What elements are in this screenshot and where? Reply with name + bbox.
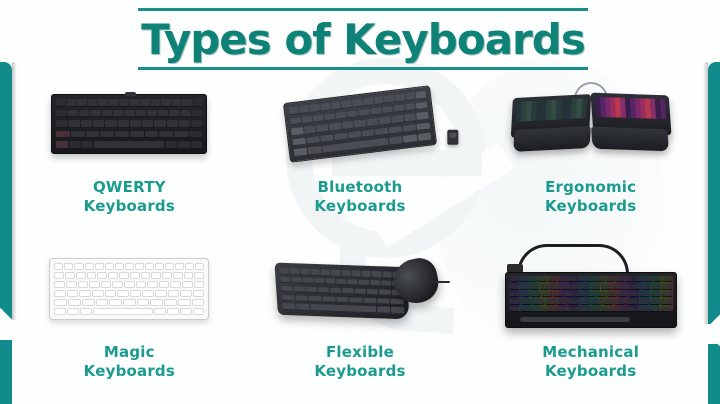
page-title: Types of Keyboards [138, 15, 588, 65]
card-magic-label-line2: Keyboards [84, 362, 175, 381]
card-magic: Magic Keyboards [14, 235, 245, 400]
title-block: Types of Keyboards [138, 8, 588, 70]
mechanical-keyboard-image [475, 241, 706, 337]
card-qwerty-label-line2: Keyboards [84, 197, 175, 216]
card-ergonomic-label: Ergonomic Keyboards [545, 178, 636, 216]
right-frame-bar-top [708, 62, 720, 324]
card-qwerty: QWERTY Keyboards [14, 70, 245, 235]
card-qwerty-label: QWERTY Keyboards [84, 178, 175, 216]
card-mechanical-label-line2: Keyboards [542, 362, 639, 381]
card-magic-label: Magic Keyboards [84, 343, 175, 381]
flexible-keyboard-image [245, 241, 476, 337]
card-mechanical-label: Mechanical Keyboards [542, 343, 639, 381]
title-rule-top [138, 8, 588, 11]
card-ergonomic-label-line2: Keyboards [545, 197, 636, 216]
flexible-cable [432, 281, 450, 283]
card-bluetooth-label-line1: Bluetooth [314, 178, 405, 197]
infographic-poster: Types of Keyboards [0, 0, 720, 404]
card-bluetooth-label: Bluetooth Keyboards [314, 178, 405, 216]
card-ergonomic: Ergonomic Keyboards [475, 70, 706, 235]
qwerty-keyboard-image [14, 76, 245, 172]
card-bluetooth: Bluetooth Keyboards [245, 70, 476, 235]
card-bluetooth-label-line2: Keyboards [314, 197, 405, 216]
card-ergonomic-label-line1: Ergonomic [545, 178, 636, 197]
right-frame-bar-bottom [708, 344, 720, 404]
card-flexible-label-line2: Keyboards [314, 362, 405, 381]
card-flexible-label: Flexible Keyboards [314, 343, 405, 381]
magic-keyboard-image [14, 241, 245, 337]
card-flexible-label-line1: Flexible [314, 343, 405, 362]
card-mechanical-label-line1: Mechanical [542, 343, 639, 362]
mechanical-cable [517, 244, 629, 274]
card-qwerty-label-line1: QWERTY [84, 178, 175, 197]
card-flexible: Flexible Keyboards [245, 235, 476, 400]
left-frame-bar-top [0, 62, 12, 320]
ergonomic-keyboard-image [475, 76, 706, 172]
left-frame-bar-bottom [0, 340, 12, 404]
card-magic-label-line1: Magic [84, 343, 175, 362]
usb-dongle-icon [447, 130, 458, 145]
keyboard-types-grid: QWERTY Keyboards [14, 70, 706, 400]
bluetooth-keyboard-image [245, 76, 476, 172]
card-mechanical: Mechanical Keyboards [475, 235, 706, 400]
